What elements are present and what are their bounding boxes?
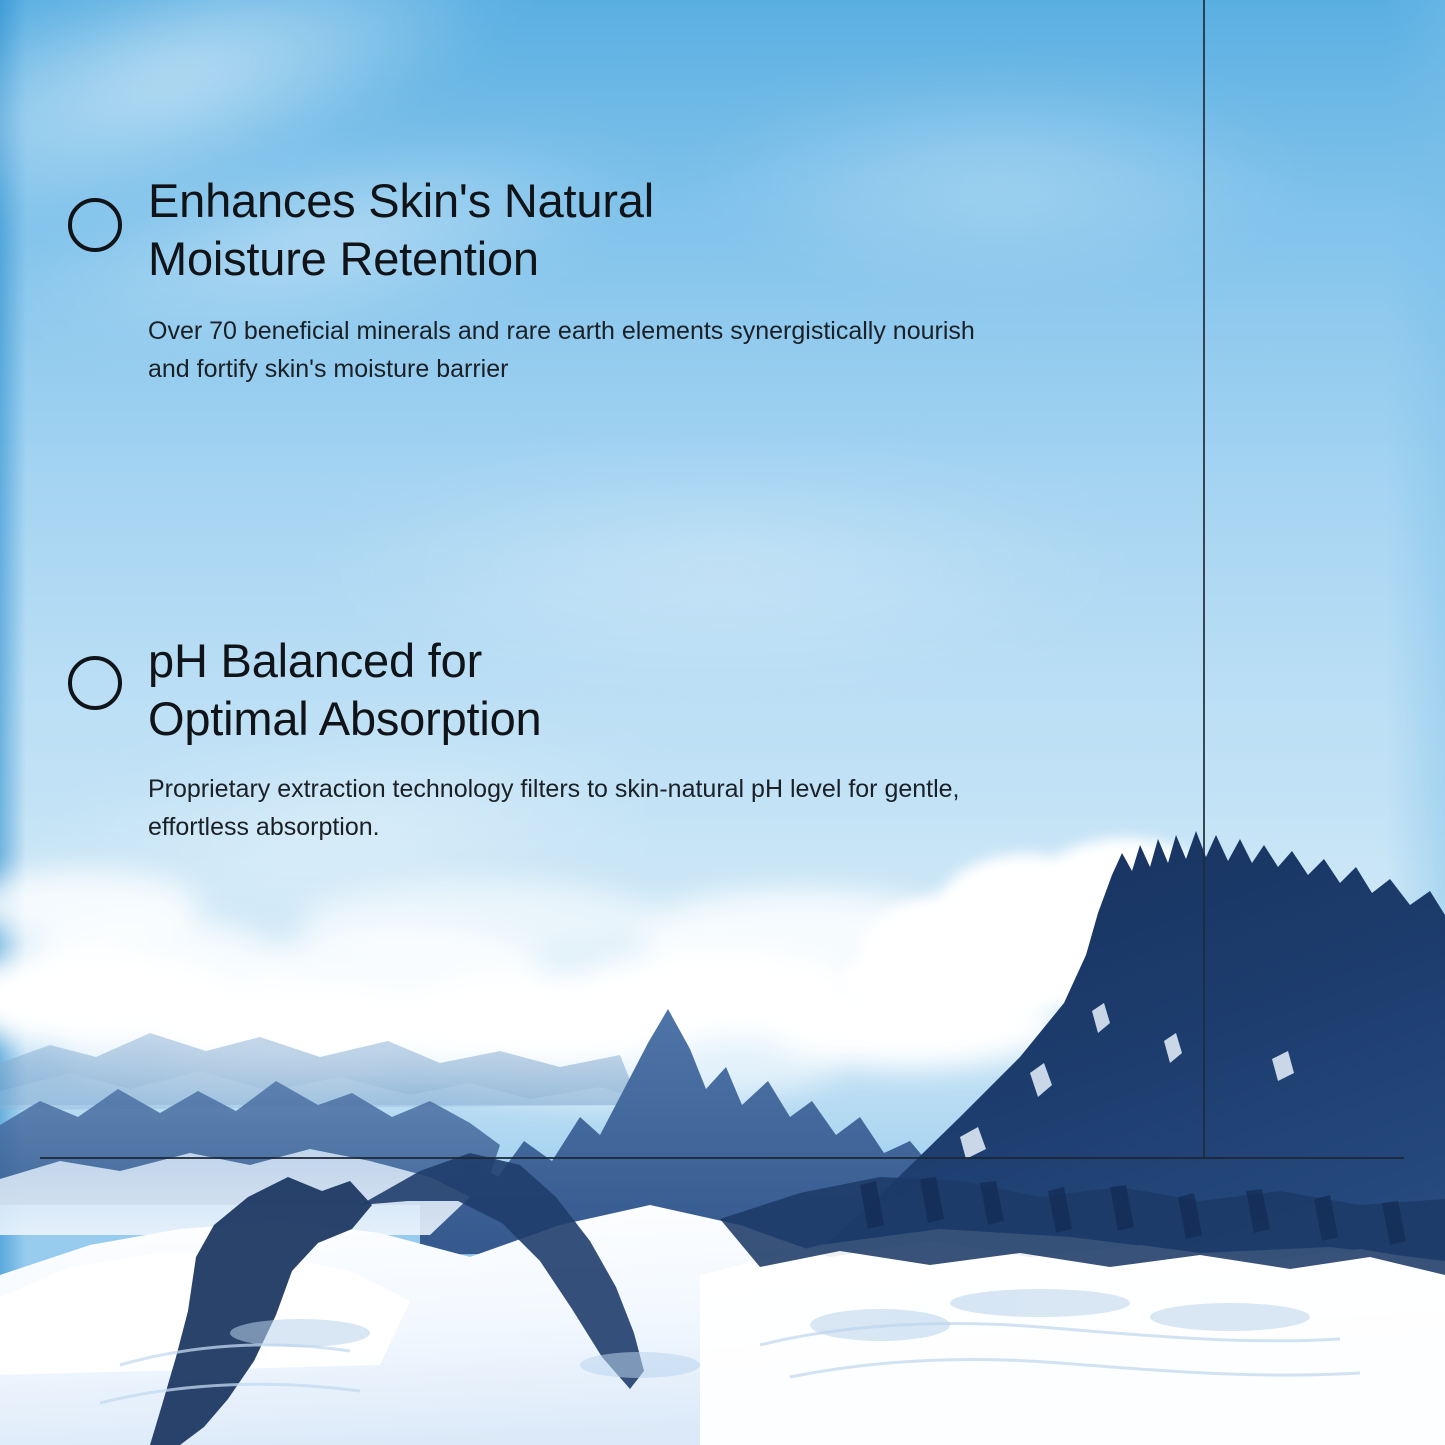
feature-block-1: Enhances Skin's Natural Moisture Retenti… xyxy=(0,172,1160,388)
feature-2-description: Proprietary extraction technology filter… xyxy=(148,770,1138,846)
feature-2-row: pH Balanced for Optimal Absorption xyxy=(0,632,1160,748)
circle-outline-icon xyxy=(68,656,122,710)
mountain-range xyxy=(0,805,1445,1445)
horizontal-guide-line xyxy=(40,1157,1404,1159)
vertical-guide-line xyxy=(1203,0,1205,1159)
feature-1-row: Enhances Skin's Natural Moisture Retenti… xyxy=(0,172,1160,288)
feature-block-2: pH Balanced for Optimal Absorption Propr… xyxy=(0,632,1160,846)
infographic-canvas: Enhances Skin's Natural Moisture Retenti… xyxy=(0,0,1445,1445)
feature-1-description: Over 70 beneficial minerals and rare ear… xyxy=(148,312,1138,388)
feature-1-title: Enhances Skin's Natural Moisture Retenti… xyxy=(148,172,1160,288)
circle-outline-icon xyxy=(68,198,122,252)
feature-2-title: pH Balanced for Optimal Absorption xyxy=(148,632,1160,748)
